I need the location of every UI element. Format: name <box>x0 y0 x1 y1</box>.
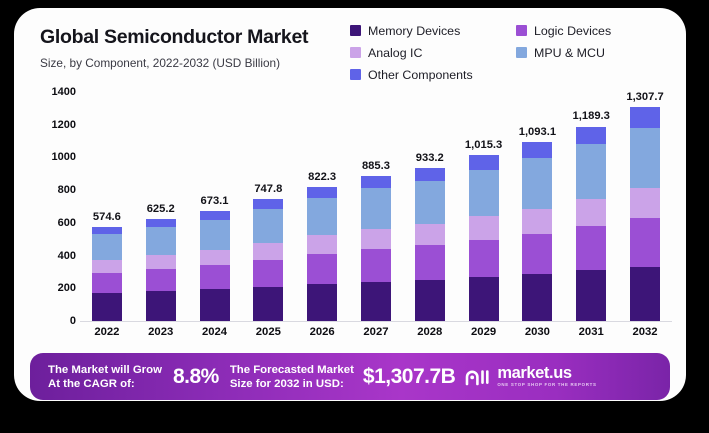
legend-label: Analog IC <box>368 46 422 60</box>
bar-segment[interactable] <box>630 218 660 266</box>
x-axis-tick-label: 2026 <box>295 326 349 344</box>
bar-segment[interactable] <box>146 219 176 227</box>
bar-stack <box>630 107 660 321</box>
cagr-value: 8.8% <box>173 365 219 389</box>
legend-swatch-icon <box>516 47 527 58</box>
bar-segment[interactable] <box>307 254 337 284</box>
bar-total-label: 1,015.3 <box>465 139 502 151</box>
page-title: Global Semiconductor Market <box>40 26 308 49</box>
forecast-label-line1: The Forecasted Market <box>230 363 354 377</box>
bar-stack <box>361 176 391 321</box>
bar-segment[interactable] <box>200 211 230 220</box>
bar-total-label: 1,307.7 <box>626 91 663 103</box>
bar-stack <box>307 187 337 321</box>
bar-segment[interactable] <box>576 270 606 321</box>
bar-segment[interactable] <box>361 188 391 228</box>
bar-total-label: 1,189.3 <box>573 110 610 122</box>
legend-item-mpu-mcu[interactable]: MPU & MCU <box>516 44 656 61</box>
legend-label: Logic Devices <box>534 24 611 38</box>
bar-segment[interactable] <box>522 142 552 158</box>
forecast-value: $1,307.7B <box>363 365 455 389</box>
cagr-label: The Market will Grow At the CAGR of: <box>48 363 162 391</box>
bar-segment[interactable] <box>361 249 391 282</box>
forecast-label: The Forecasted Market Size for 2032 in U… <box>230 363 354 391</box>
cagr-label-line2: At the CAGR of: <box>48 377 162 391</box>
bar-total-label: 747.8 <box>254 183 282 195</box>
legend-swatch-icon <box>350 47 361 58</box>
bar-segment[interactable] <box>92 234 122 259</box>
bar-stack <box>415 168 445 321</box>
x-axis-line <box>80 321 672 322</box>
y-axis-tick-label: 0 <box>70 315 76 327</box>
x-axis-tick-label: 2023 <box>134 326 188 344</box>
bar-segment[interactable] <box>200 220 230 250</box>
bar-segment[interactable] <box>630 267 660 321</box>
bar-segment[interactable] <box>200 265 230 289</box>
legend-swatch-icon <box>350 69 361 80</box>
bar-segment[interactable] <box>146 291 176 321</box>
bar-segment[interactable] <box>146 227 176 255</box>
bar-segment[interactable] <box>630 107 660 128</box>
bar-segment[interactable] <box>253 260 283 287</box>
bar-group-2027[interactable]: 885.3 <box>349 92 403 321</box>
x-axis-tick-label: 2030 <box>511 326 565 344</box>
bar-segment[interactable] <box>253 199 283 209</box>
bar-segment[interactable] <box>469 170 499 217</box>
bar-group-2032[interactable]: 1,307.7 <box>618 92 672 321</box>
bar-segment[interactable] <box>522 158 552 208</box>
y-axis-tick-label: 1400 <box>52 86 76 98</box>
bar-series-group: 574.6625.2673.1747.8822.3885.3933.21,015… <box>80 92 672 321</box>
x-axis-tick-label: 2029 <box>457 326 511 344</box>
logo-wave-icon <box>465 367 491 387</box>
legend-item-logic-devices[interactable]: Logic Devices <box>516 22 656 39</box>
bar-total-label: 673.1 <box>201 195 229 207</box>
y-axis-tick-label: 800 <box>58 184 76 196</box>
x-axis-tick-label: 2024 <box>188 326 242 344</box>
bar-segment[interactable] <box>361 282 391 321</box>
bar-segment[interactable] <box>576 226 606 270</box>
bar-segment[interactable] <box>415 168 445 181</box>
chart-plot-area: 0200400600800100012001400 574.6625.2673.… <box>30 92 676 344</box>
summary-banner: The Market will Grow At the CAGR of: 8.8… <box>30 353 670 400</box>
screenshot-root: Global Semiconductor Market Size, by Com… <box>0 0 709 433</box>
bar-group-2029[interactable]: 1,015.3 <box>457 92 511 321</box>
bar-stack <box>92 227 122 321</box>
bar-group-2024[interactable]: 673.1 <box>188 92 242 321</box>
x-axis-tick-label: 2032 <box>618 326 672 344</box>
bar-segment[interactable] <box>415 181 445 224</box>
bar-group-2022[interactable]: 574.6 <box>80 92 134 321</box>
y-axis-tick-label: 600 <box>58 217 76 229</box>
bar-segment[interactable] <box>200 289 230 321</box>
bar-segment[interactable] <box>307 198 337 235</box>
x-axis-tick-label: 2028 <box>403 326 457 344</box>
x-axis: 2022202320242025202620272028202920302031… <box>80 326 672 344</box>
market-us-logo[interactable]: market.us ONE STOP SHOP FOR THE REPORTS <box>465 365 596 388</box>
bar-stack <box>469 155 499 321</box>
bar-segment[interactable] <box>92 273 122 294</box>
bar-segment[interactable] <box>576 199 606 226</box>
legend-item-analog-ic[interactable]: Analog IC <box>350 44 516 61</box>
bar-group-2031[interactable]: 1,189.3 <box>564 92 618 321</box>
x-axis-tick-label: 2031 <box>564 326 618 344</box>
forecast-label-line2: Size for 2032 in USD: <box>230 377 354 391</box>
bar-segment[interactable] <box>361 229 391 249</box>
bar-stack <box>253 199 283 321</box>
legend-label: MPU & MCU <box>534 46 605 60</box>
legend-label: Other Components <box>368 68 473 82</box>
bar-segment[interactable] <box>415 224 445 245</box>
bar-segment[interactable] <box>576 144 606 199</box>
bar-segment[interactable] <box>469 277 499 321</box>
bar-segment[interactable] <box>253 243 283 260</box>
legend-swatch-icon <box>516 25 527 36</box>
bar-stack <box>200 211 230 321</box>
legend-item-memory-devices[interactable]: Memory Devices <box>350 22 516 39</box>
bar-segment[interactable] <box>92 260 122 273</box>
logo-text-block: market.us ONE STOP SHOP FOR THE REPORTS <box>497 365 596 388</box>
bar-segment[interactable] <box>253 209 283 243</box>
bar-segment[interactable] <box>469 155 499 170</box>
bar-segment[interactable] <box>576 127 606 145</box>
bar-total-label: 574.6 <box>93 211 121 223</box>
bar-segment[interactable] <box>469 216 499 239</box>
y-axis: 0200400600800100012001400 <box>30 92 76 324</box>
bar-segment[interactable] <box>522 234 552 274</box>
bar-segment[interactable] <box>200 250 230 265</box>
bar-group-2023[interactable]: 625.2 <box>134 92 188 321</box>
bar-group-2025[interactable]: 747.8 <box>241 92 295 321</box>
bar-segment[interactable] <box>146 269 176 291</box>
bar-segment[interactable] <box>361 176 391 188</box>
bar-segment[interactable] <box>522 209 552 234</box>
bar-group-2026[interactable]: 822.3 <box>295 92 349 321</box>
bar-group-2030[interactable]: 1,093.1 <box>511 92 565 321</box>
bar-total-label: 1,093.1 <box>519 126 556 138</box>
legend-item-other-components[interactable]: Other Components <box>350 66 516 83</box>
bar-stack <box>522 142 552 321</box>
bar-segment[interactable] <box>253 287 283 321</box>
bar-segment[interactable] <box>146 255 176 269</box>
bar-total-label: 885.3 <box>362 160 390 172</box>
bar-segment[interactable] <box>469 240 499 277</box>
bar-stack <box>146 219 176 321</box>
x-axis-tick-label: 2025 <box>241 326 295 344</box>
bar-stack <box>576 127 606 322</box>
y-axis-tick-label: 200 <box>58 282 76 294</box>
bar-segment[interactable] <box>415 280 445 321</box>
chart-legend: Memory DevicesLogic DevicesAnalog ICMPU … <box>350 22 656 83</box>
bar-segment[interactable] <box>522 274 552 321</box>
bar-segment[interactable] <box>415 245 445 279</box>
x-axis-tick-label: 2027 <box>349 326 403 344</box>
bar-segment[interactable] <box>92 293 122 321</box>
bar-total-label: 822.3 <box>308 171 336 183</box>
cagr-label-line1: The Market will Grow <box>48 363 162 377</box>
bar-segment[interactable] <box>92 227 122 234</box>
chart-card: Global Semiconductor Market Size, by Com… <box>14 8 686 401</box>
bar-segment[interactable] <box>630 128 660 188</box>
y-axis-tick-label: 400 <box>58 250 76 262</box>
chart-subtitle: Size, by Component, 2022-2032 (USD Billi… <box>40 56 280 70</box>
bar-segment[interactable] <box>630 188 660 218</box>
bar-segment[interactable] <box>307 284 337 321</box>
bar-total-label: 933.2 <box>416 152 444 164</box>
bar-total-label: 625.2 <box>147 203 175 215</box>
bar-group-2028[interactable]: 933.2 <box>403 92 457 321</box>
logo-wordmark: market.us <box>497 365 596 381</box>
legend-swatch-icon <box>350 25 361 36</box>
bar-segment[interactable] <box>307 187 337 198</box>
y-axis-tick-label: 1000 <box>52 151 76 163</box>
x-axis-tick-label: 2022 <box>80 326 134 344</box>
logo-tagline: ONE STOP SHOP FOR THE REPORTS <box>497 381 596 388</box>
y-axis-tick-label: 1200 <box>52 119 76 131</box>
bar-segment[interactable] <box>307 235 337 254</box>
legend-label: Memory Devices <box>368 24 460 38</box>
